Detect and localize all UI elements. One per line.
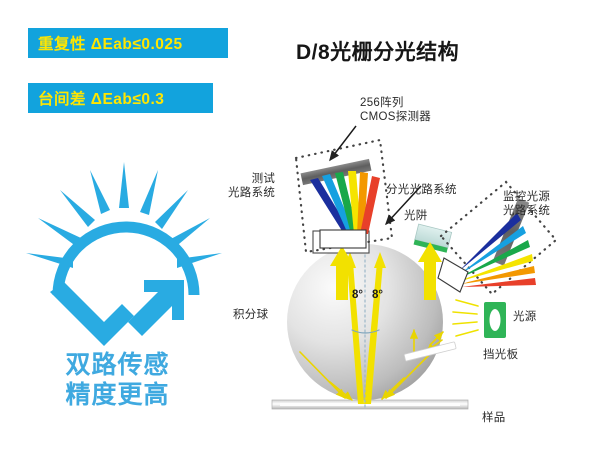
lamp-icon: [453, 300, 506, 338]
label-splitting-optical-path: 分光光路系统: [386, 183, 457, 197]
label-baffle: 挡光板: [483, 348, 518, 362]
label-test-optical-path: 测试 光路系统: [228, 172, 275, 200]
label-sample: 样品: [482, 411, 506, 425]
label-cmos-detector: 256阵列 CMOS探测器: [360, 96, 431, 124]
test-optics-module: [296, 140, 392, 252]
label-light-source: 光源: [513, 310, 537, 324]
label-monitor-optical-path: 监控光源 光路系统: [503, 190, 550, 218]
label-integrating-sphere: 积分球: [233, 308, 268, 322]
angle-label-right: 8°: [372, 289, 383, 301]
angle-label-left: 8°: [352, 289, 363, 301]
diagram-canvas: 重复性 ΔEab≤0.025 台间差 ΔEab≤0.3: [0, 0, 600, 450]
optical-schematic: [0, 0, 600, 450]
spectrum-fan-right: [458, 213, 536, 287]
prism-icon: [320, 230, 366, 248]
label-light-trap: 光阱: [404, 209, 428, 223]
